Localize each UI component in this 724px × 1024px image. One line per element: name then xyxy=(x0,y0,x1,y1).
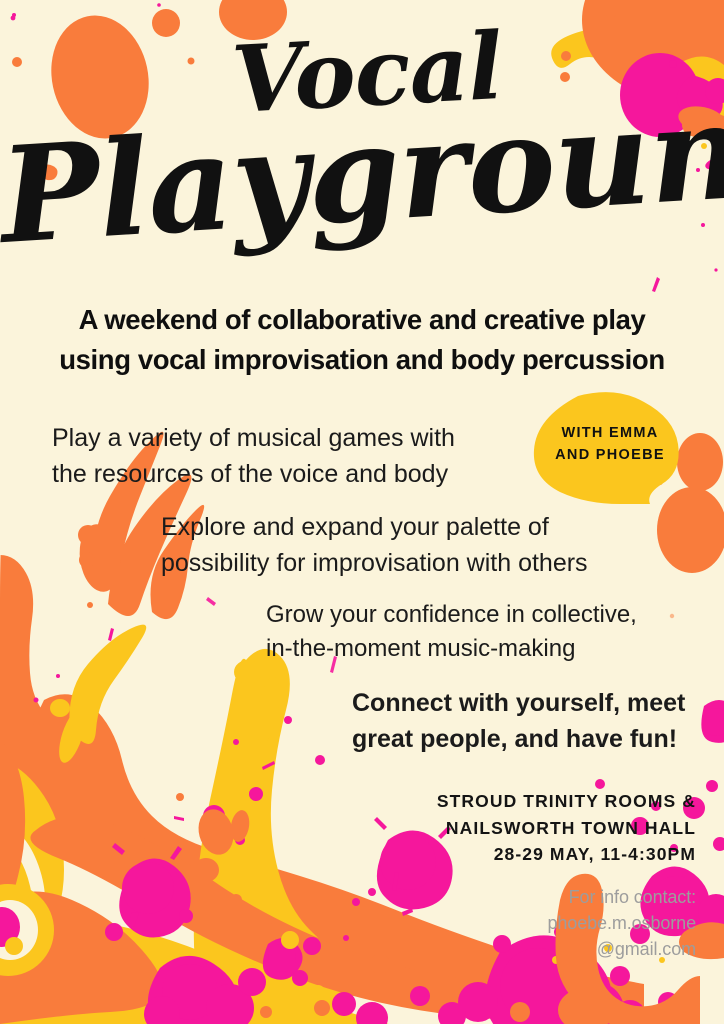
body-paragraph-3-line-2: in-the-moment music-making xyxy=(266,632,637,666)
body-paragraph-1: Play a variety of musical games with the… xyxy=(52,421,455,492)
subtitle-line-1: A weekend of collaborative and creative … xyxy=(0,300,724,340)
presenters-badge: WITH EMMA AND PHOEBE xyxy=(524,392,696,504)
poster-title: Vocal Playground xyxy=(0,28,724,240)
poster-canvas: Vocal Playground A weekend of collaborat… xyxy=(0,0,724,1024)
contact-details: For info contact: phoebe.m.osborne @gmai… xyxy=(0,884,696,962)
contact-label: For info contact: xyxy=(0,884,696,910)
body-paragraph-4: Connect with yourself, meet great people… xyxy=(352,686,685,757)
venue-details: STROUD TRINITY ROOMS & NAILSWORTH TOWN H… xyxy=(0,788,696,868)
badge-line-1: WITH EMMA xyxy=(524,422,696,444)
subtitle-line-2: using vocal improvisation and body percu… xyxy=(0,340,724,380)
badge-line-2: AND PHOEBE xyxy=(524,444,696,466)
venue-line-2: NAILSWORTH TOWN HALL xyxy=(0,815,696,842)
contact-email-domain: @gmail.com xyxy=(0,936,696,962)
body-paragraph-3: Grow your confidence in collective, in-t… xyxy=(266,598,637,666)
event-date-time: 28-29 MAY, 11-4:30PM xyxy=(0,841,696,868)
poster-subtitle: A weekend of collaborative and creative … xyxy=(0,300,724,380)
body-paragraph-4-line-2: great people, and have fun! xyxy=(352,722,685,758)
body-paragraph-1-line-2: the resources of the voice and body xyxy=(52,457,455,493)
body-paragraph-3-line-1: Grow your confidence in collective, xyxy=(266,598,637,632)
presenters-badge-text: WITH EMMA AND PHOEBE xyxy=(524,422,696,467)
body-paragraph-2: Explore and expand your palette of possi… xyxy=(161,510,588,581)
body-paragraph-1-line-1: Play a variety of musical games with xyxy=(52,421,455,457)
body-paragraph-2-line-2: possibility for improvisation with other… xyxy=(161,546,588,582)
venue-line-1: STROUD TRINITY ROOMS & xyxy=(0,788,696,815)
title-line-playground: Playground xyxy=(0,88,724,261)
body-paragraph-2-line-1: Explore and expand your palette of xyxy=(161,510,588,546)
body-paragraph-4-line-1: Connect with yourself, meet xyxy=(352,686,685,722)
contact-email-local: phoebe.m.osborne xyxy=(0,910,696,936)
